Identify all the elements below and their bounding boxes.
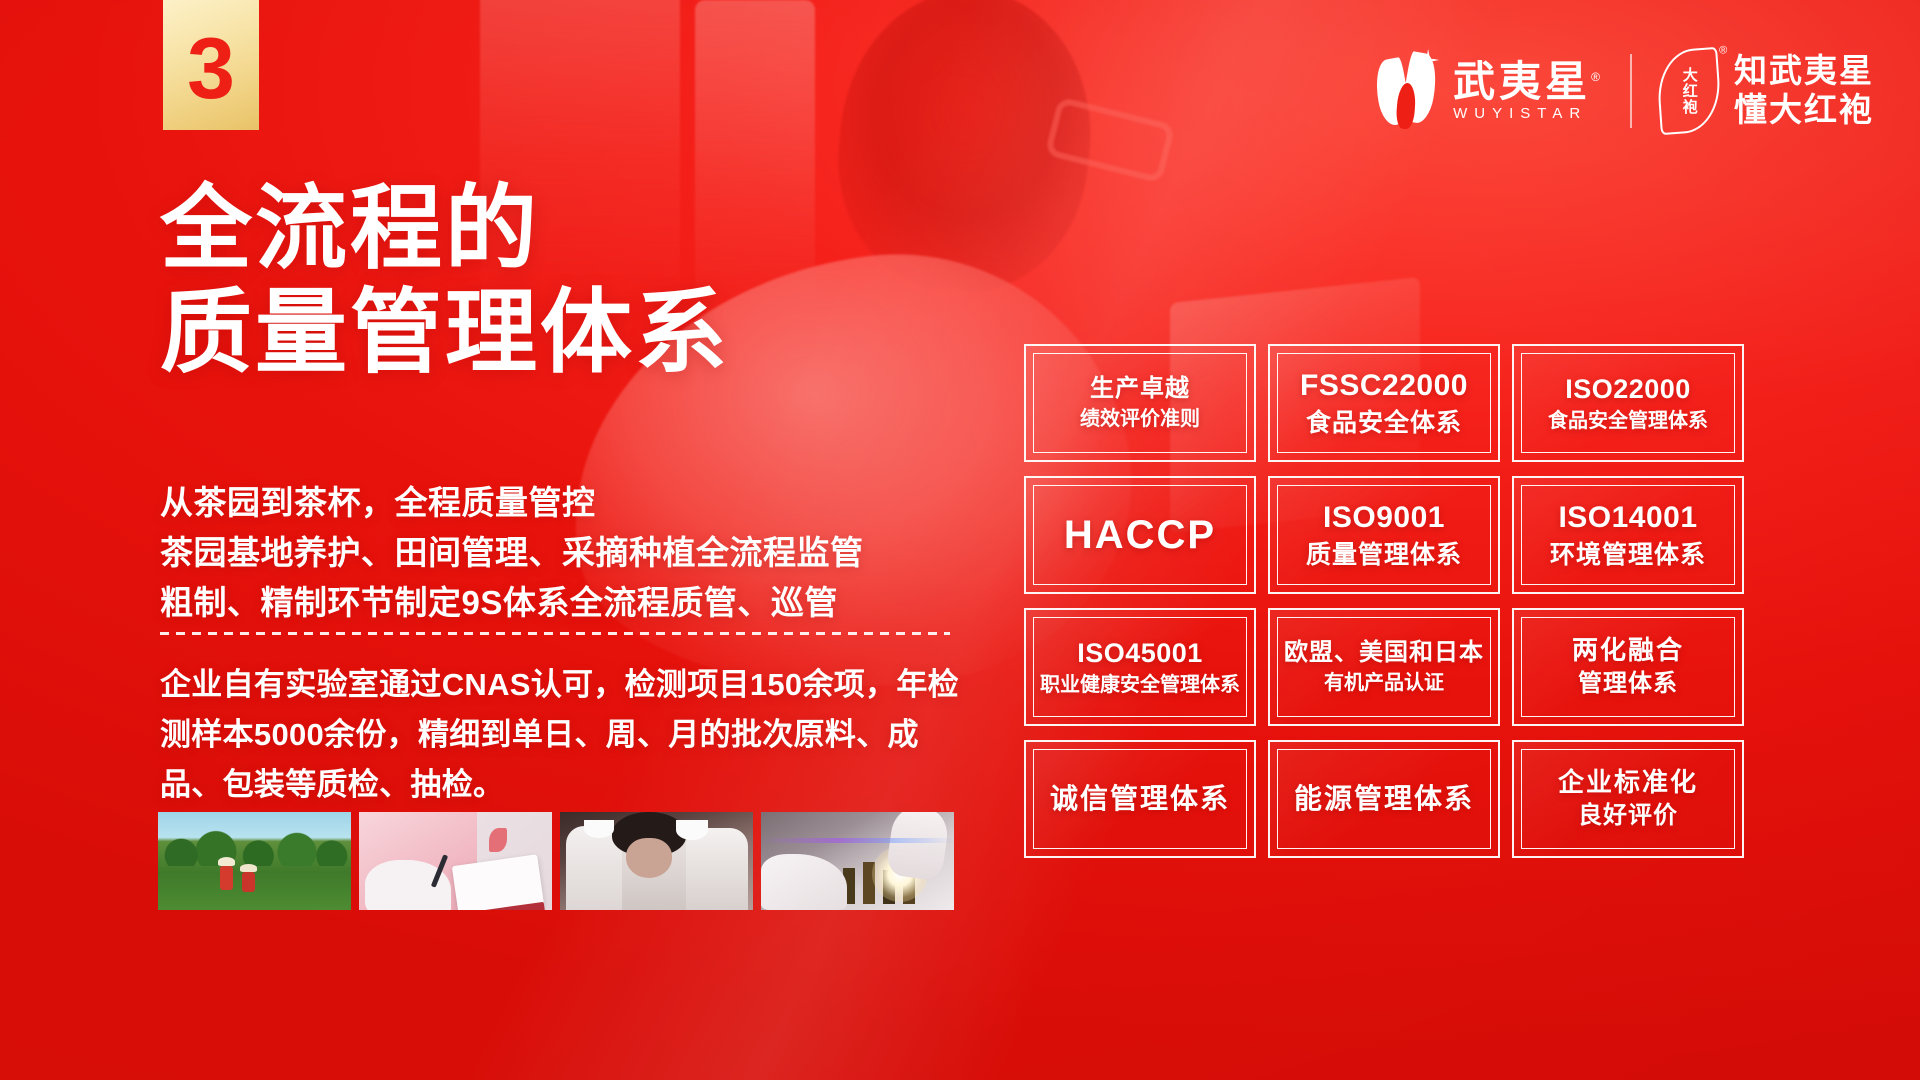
certification-card[interactable]: HACCP [1024, 476, 1256, 594]
certification-card[interactable]: ISO45001 职业健康安全管理体系 [1024, 608, 1256, 726]
certification-title: 两化融合 [1572, 635, 1684, 666]
certification-subtitle: 职业健康安全管理体系 [1040, 673, 1240, 697]
lead-line3: 粗制、精制环节制定9S体系全流程质管、巡管 [160, 578, 864, 628]
certification-title: 能源管理体系 [1294, 782, 1474, 816]
section-number-badge: 3 [163, 0, 259, 130]
certification-card[interactable]: 两化融合 管理体系 [1512, 608, 1744, 726]
certification-subtitle: 食品安全体系 [1300, 408, 1468, 438]
tea-garden-photo [158, 812, 351, 910]
certification-card[interactable]: 欧盟、美国和日本 有机产品认证 [1268, 608, 1500, 726]
dahongpao-leaf-seal-icon: 大红袍 ® [1655, 47, 1723, 135]
laboratory-photo [761, 812, 954, 910]
certification-subtitle: 有机产品认证 [1284, 671, 1484, 695]
section-number: 3 [187, 26, 235, 112]
page-title-line2: 质量管理体系 [160, 282, 730, 386]
slide-root: 3 武夷星® WUYISTAR 大红袍 ® 知武夷星 懂大红袍 [0, 0, 1920, 1080]
certification-title: 企业标准化 [1558, 767, 1698, 798]
certification-card[interactable]: ISO22000 食品安全管理体系 [1512, 344, 1744, 462]
tea-cupping-photo [560, 812, 753, 910]
page-title-line1: 全流程的 [160, 178, 730, 282]
certification-card[interactable]: ISO9001 质量管理体系 [1268, 476, 1500, 594]
certification-subtitle: 质量管理体系 [1306, 540, 1462, 570]
certification-card[interactable]: 生产卓越 绩效评价准则 [1024, 344, 1256, 462]
certification-title: ISO14001 [1550, 500, 1706, 536]
lead-line1: 从茶园到茶杯，全程质量管控 [160, 478, 864, 528]
certification-title: ISO45001 [1040, 637, 1240, 669]
seal-registered-mark: ® [1719, 44, 1728, 57]
certification-title: 欧盟、美国和日本 [1284, 639, 1484, 668]
page-title: 全流程的 质量管理体系 [160, 178, 730, 386]
body-paragraph: 企业自有实验室通过CNAS认可，检测项目150余项，年检测样本5000余份，精细… [160, 660, 960, 811]
certification-subtitle: 良好评价 [1558, 802, 1698, 831]
certification-title: 诚信管理体系 [1050, 782, 1230, 816]
seal-text: 大红袍 [1681, 67, 1697, 115]
brand-logo-bar: 武夷星® WUYISTAR 大红袍 ® 知武夷星 懂大红袍 [1375, 48, 1874, 134]
brand-name-en: WUYISTAR [1453, 106, 1604, 121]
slogan-block: 大红袍 ® 知武夷星 懂大红袍 [1658, 49, 1874, 133]
lead-line2: 茶园基地养护、田间管理、采摘种植全流程监管 [160, 528, 864, 578]
certification-subtitle: 绩效评价准则 [1080, 407, 1200, 431]
brand-slogan: 知武夷星 懂大红袍 [1734, 52, 1874, 130]
certification-card[interactable]: 诚信管理体系 [1024, 740, 1256, 858]
logo-divider [1630, 54, 1632, 128]
brand-slogan-line1: 知武夷星 [1734, 52, 1874, 91]
brand-wordmark: 武夷星® WUYISTAR [1453, 61, 1604, 121]
dashed-divider [160, 632, 950, 635]
certification-title: ISO22000 [1548, 373, 1708, 405]
brand-name-cn: 武夷星 [1453, 58, 1591, 105]
certification-card[interactable]: ISO14001 环境管理体系 [1512, 476, 1744, 594]
certification-subtitle: 食品安全管理体系 [1548, 409, 1708, 433]
certification-subtitle: 管理体系 [1572, 670, 1684, 699]
brand-slogan-line2: 懂大红袍 [1734, 91, 1874, 130]
certification-title: FSSC22000 [1300, 368, 1468, 404]
wuyistar-logo: 武夷星® WUYISTAR [1375, 53, 1604, 129]
certification-card[interactable]: FSSC22000 食品安全体系 [1268, 344, 1500, 462]
certification-title: ISO9001 [1306, 500, 1462, 536]
certification-card[interactable]: 企业标准化 良好评价 [1512, 740, 1744, 858]
certification-title: HACCP [1064, 511, 1216, 559]
lead-text: 从茶园到茶杯，全程质量管控 茶园基地养护、田间管理、采摘种植全流程监管 粗制、精… [160, 478, 864, 628]
photo-strip [158, 812, 954, 910]
certification-title: 生产卓越 [1080, 375, 1200, 404]
certification-subtitle: 环境管理体系 [1550, 540, 1706, 570]
certification-grid: 生产卓越 绩效评价准则 FSSC22000 食品安全体系 ISO22000 食品… [1024, 344, 1744, 858]
quality-record-photo [359, 812, 552, 910]
registered-mark: ® [1591, 70, 1604, 84]
certification-card[interactable]: 能源管理体系 [1268, 740, 1500, 858]
flame-icon [1375, 53, 1437, 129]
